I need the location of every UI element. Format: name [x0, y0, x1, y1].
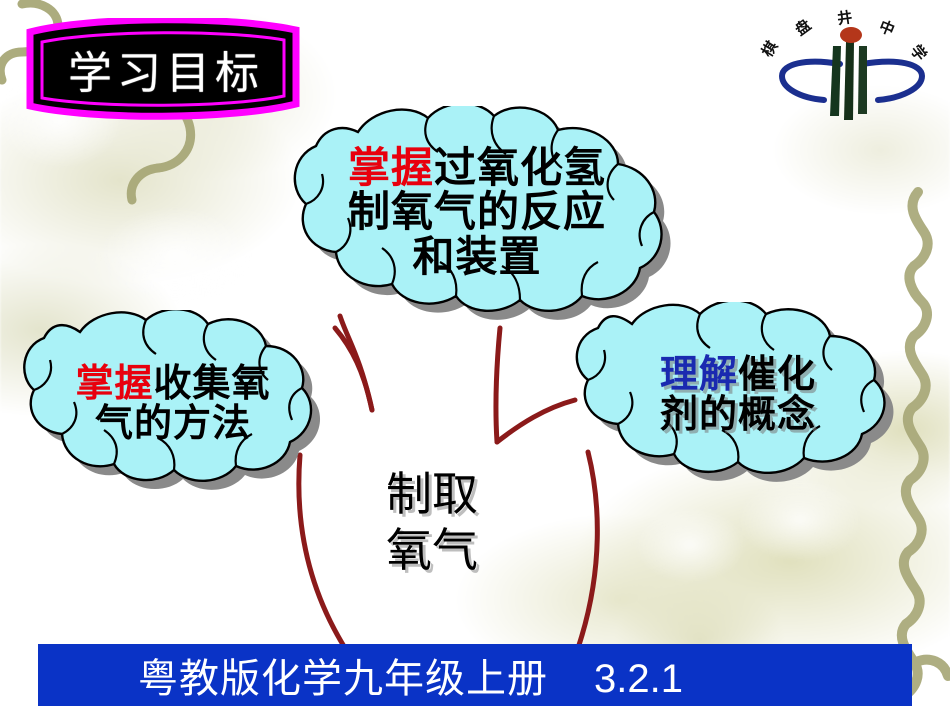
footer-course-label: 粤教版化学九年级上册 — [138, 646, 548, 704]
footer-section-number: 3.2.1 — [594, 657, 683, 702]
logo-char-1: 棋 — [758, 38, 781, 60]
footer-content: 粤教版化学九年级上册 3.2.1 — [138, 646, 683, 704]
slide-canvas: 掌握过氧化氢 制氧气的反应 和装置 — [0, 0, 950, 713]
cloud-objective-3[interactable]: 理解催化 剂的概念 — [548, 302, 928, 492]
title-banner-label: 学习目标 — [22, 18, 304, 120]
logo-char-2: 盘 — [792, 16, 815, 39]
center-hub-line-1: 制取 — [332, 466, 532, 522]
school-logo: 棋 盘 井 中 学 — [756, 2, 946, 124]
center-hub-label: 制取 氧气 — [332, 466, 532, 578]
cloud-objective-2[interactable]: 掌握收集氧 气的方法 — [8, 310, 338, 502]
logo-char-3: 井 — [836, 8, 853, 28]
footer-bar: 粤教版化学九年级上册 3.2.1 — [38, 644, 912, 706]
logo-char-5: 学 — [907, 41, 930, 64]
logo-char-4: 中 — [877, 17, 898, 39]
cloud-objective-1[interactable]: 掌握过氧化氢 制氧气的反应 和装置 — [262, 106, 692, 321]
center-hub-line-2: 氧气 — [332, 522, 532, 578]
title-banner[interactable]: 学习目标 — [22, 18, 304, 120]
